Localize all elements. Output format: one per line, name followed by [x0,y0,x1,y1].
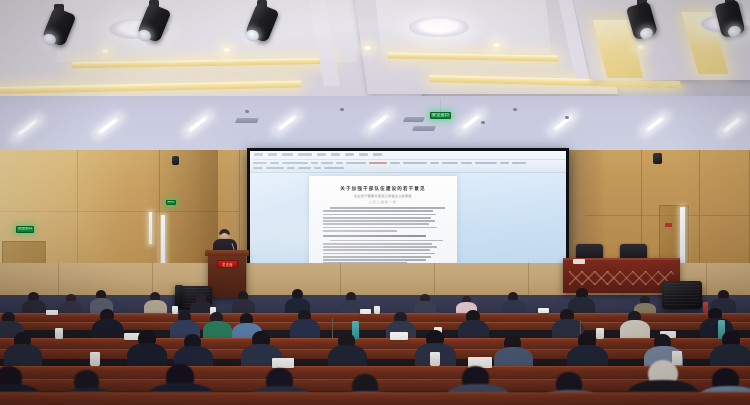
ceiling-downlight-2 [222,47,231,53]
desk-paper [390,332,408,340]
ribbon-tab[interactable] [268,153,277,156]
ribbon-control[interactable] [324,167,344,169]
ribbon-control[interactable] [512,162,526,164]
linear-light-3 [184,113,212,136]
desk-cup [55,328,63,339]
document-text-line [323,214,436,216]
ceiling-downlight-3 [363,45,372,51]
podium-placard: 发言席 [217,260,238,268]
document-text-line [323,256,431,258]
ribbon-control[interactable] [270,162,279,164]
document-paragraph-2 [323,240,443,264]
exit-sign-label: 安全出口 [431,113,450,117]
exit-sign-ceiling: 安全出口 [430,112,451,119]
projection-screen-surface: 关于加强干部队伍建设的若干意见 在全市干部教育培训工作会议上的讲话 二〇二四年一… [250,151,566,265]
document-text-line [323,220,435,222]
stage-spotlight-3 [248,0,276,46]
pa-speaker-right [662,281,702,309]
ribbon-control[interactable] [346,162,366,164]
ribbon-tab[interactable] [359,153,368,156]
ribbon-control[interactable] [475,162,497,164]
ribbon-control[interactable] [403,162,427,164]
ribbon-control[interactable] [390,162,400,164]
document-text-line [323,253,435,255]
wall-notice-sign [665,223,672,227]
document-text-line [323,217,431,219]
pa-speaker-grille [664,283,700,307]
document-text-line [323,227,437,229]
wall-speaker-left [172,156,179,165]
ribbon-control[interactable] [311,162,318,164]
hvac-vent-2 [403,117,425,122]
ribbon-control[interactable] [442,162,458,164]
door-light-strip-right [680,207,685,263]
ribbon-tab[interactable] [282,153,293,156]
word-document-page: 关于加强干部队伍建设的若干意见 在全市干部教育培训工作会议上的讲话 二〇二四年一… [309,176,457,265]
exit-sign-wall-left-label: 安全出口 [17,227,33,231]
document-text-line [330,207,445,209]
desk-cup [596,328,604,339]
linear-light-8 [642,113,668,135]
desk-row-front [0,392,750,405]
ribbon-control[interactable] [298,167,311,169]
desk-cup [374,306,380,314]
word-ribbon-controls-2[interactable] [253,167,563,169]
wall-speaker-right [653,153,662,164]
pa-speaker-center [175,285,183,307]
ribbon-tab[interactable] [298,153,312,156]
document-text-line [323,223,429,225]
ribbon-control[interactable] [336,162,343,164]
ribbon-control[interactable] [282,162,308,164]
document-subtitle: 在全市干部教育培训工作会议上的讲话 [323,194,443,198]
desk-paper [272,358,294,368]
ceiling-downlight-5 [636,44,645,50]
projection-screen[interactable]: 关于加强干部队伍建设的若干意见 在全市干部教育培训工作会议上的讲话 二〇二四年一… [247,148,569,268]
ribbon-control[interactable] [461,162,472,164]
desk-mic-stand [332,318,333,340]
document-text-line [323,246,437,248]
ribbon-control[interactable] [266,167,284,169]
linear-light-9 [720,115,745,135]
stage-spotlight-4 [628,0,656,44]
head-table-placard [573,259,585,264]
ribbon-tab[interactable] [317,153,326,156]
stage-spotlight-5 [716,0,744,42]
desk-paper [360,309,371,314]
exit-sign-wall-mid-label: EXIT [167,201,175,204]
ribbon-control-highlight[interactable] [369,162,387,164]
document-byline: 二〇二四年一月 [323,200,443,204]
desk-cup [672,351,682,365]
document-text-line [323,210,433,212]
smoke-detector-3 [513,108,517,111]
ribbon-tab[interactable] [373,153,382,156]
document-text-line [323,259,426,261]
word-ribbon-controls[interactable] [253,162,563,164]
ribbon-control[interactable] [321,162,333,164]
desk-row-3-panel [0,349,750,359]
desk-cup [90,352,100,366]
ribbon-control[interactable] [287,167,295,169]
exit-sign-hanger [440,98,441,113]
word-ribbon [250,151,566,173]
smoke-detector-5 [481,121,485,124]
hvac-vent-1 [235,118,259,123]
smoke-detector-1 [245,110,249,113]
desk-bottle [703,302,708,313]
stage-spotlight-2 [140,0,168,46]
podium-placard-text: 发言席 [222,262,233,267]
ceiling-downlight-1 [101,48,110,54]
document-text-line [330,240,443,242]
linear-light-2 [94,115,122,138]
smoke-detector-2 [340,108,344,111]
smoke-detector-4 [565,116,569,119]
ribbon-control[interactable] [253,162,267,164]
ribbon-control[interactable] [314,167,321,169]
word-ribbon-tabs[interactable] [254,153,382,156]
linear-light-4 [274,112,300,134]
document-paragraph-1 [323,207,443,231]
ribbon-control[interactable] [500,162,509,164]
wall-panel-seam [700,150,750,216]
document-section-heading [323,235,426,237]
ceiling-ring-light-right [408,16,470,38]
document-text-line [323,249,430,251]
ribbon-control[interactable] [430,162,439,164]
exit-sign-wall-left: 安全出口 [16,226,34,233]
stage-spotlight-1 [45,4,73,50]
ribbon-tab[interactable] [254,153,263,156]
podium-top [205,250,249,256]
desk-cup [430,352,440,366]
desk-paper [46,310,58,315]
desk-paper [538,308,549,313]
linear-light-7 [550,112,576,134]
door-light-strip-left-1 [149,212,152,244]
exit-sign-wall-mid: EXIT [166,200,176,205]
hvac-vent-3 [412,126,436,131]
ribbon-tab[interactable] [345,153,354,156]
ribbon-tab[interactable] [331,153,340,156]
conference-hall-photo: 安全出口 安全出口 EXIT [0,0,750,405]
document-text-line [323,243,432,245]
ribbon-control[interactable] [253,167,263,169]
document-title: 关于加强干部队伍建设的若干意见 [323,186,443,192]
desk-cup [172,306,178,314]
ceiling-downlight-4 [492,42,501,48]
linear-light-5 [366,111,392,133]
linear-light-1 [12,116,41,140]
document-text-line [323,230,397,232]
head-table-pattern [569,271,674,285]
ribbon-separator [253,159,566,160]
